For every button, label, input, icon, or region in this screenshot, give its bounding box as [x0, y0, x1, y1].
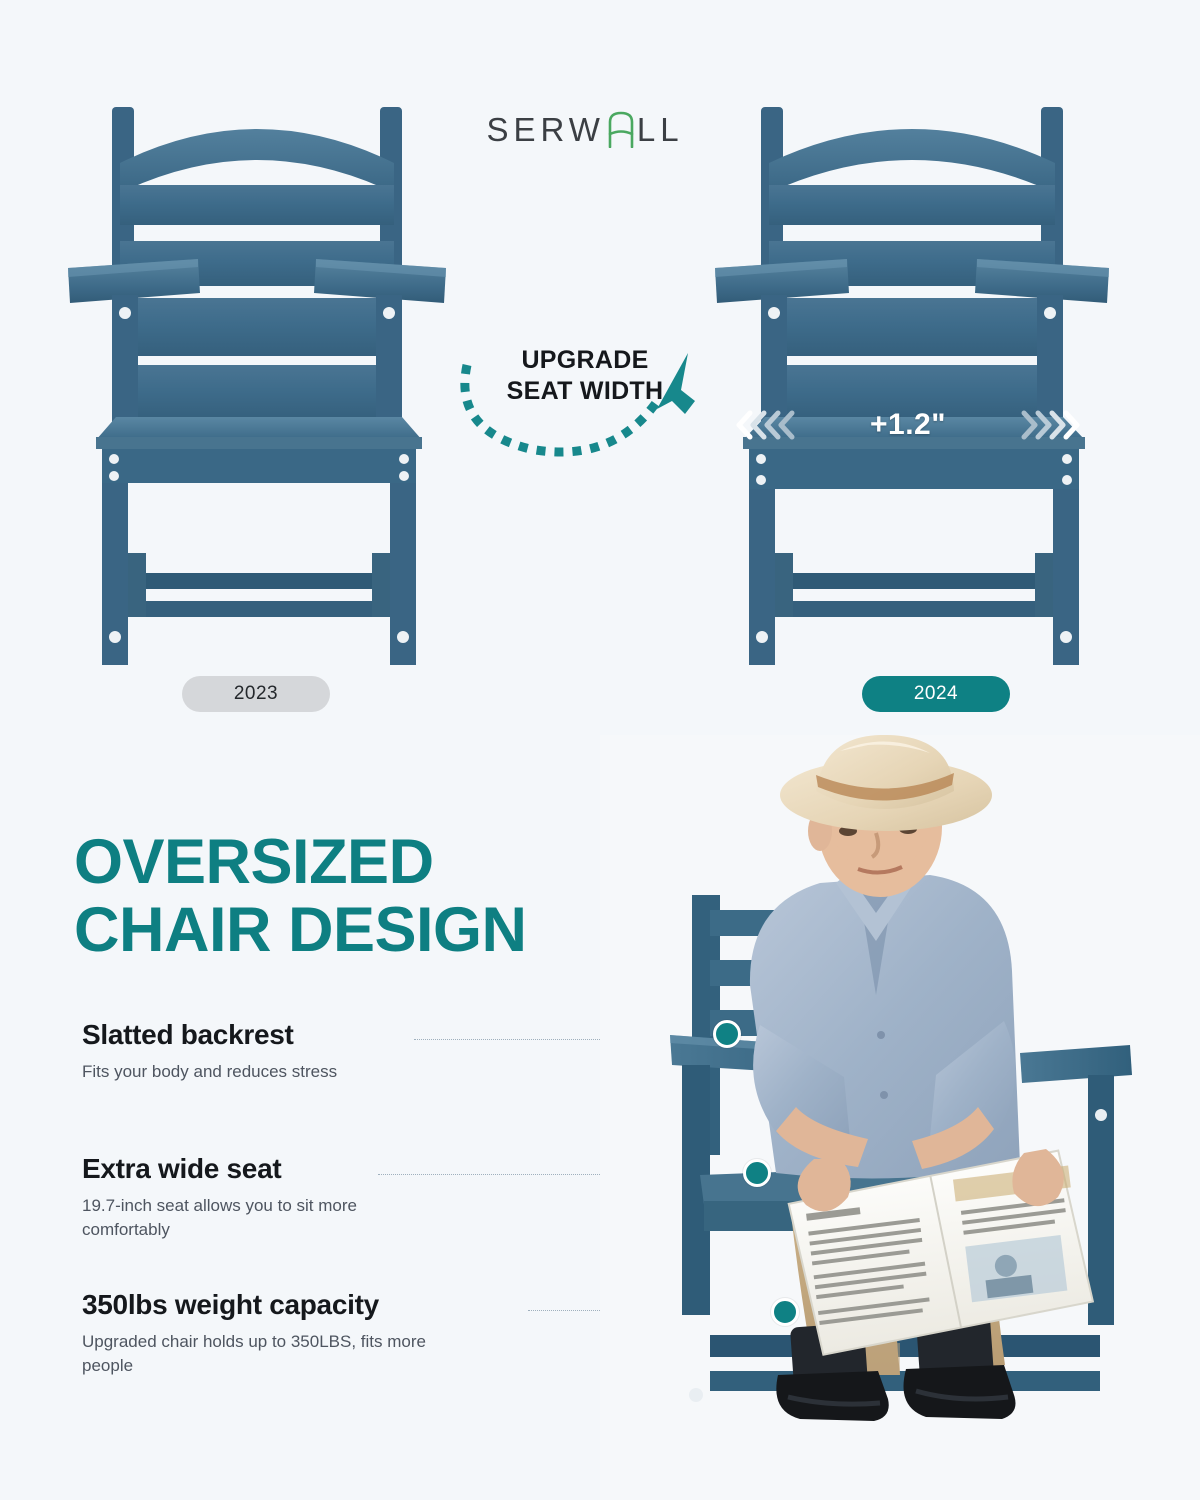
- headline-line-2: CHAIR DESIGN: [74, 896, 634, 964]
- feature-description: Fits your body and reduces stress: [82, 1060, 552, 1085]
- year-badge-2024-label: 2024: [914, 683, 958, 705]
- chair-2023: [50, 45, 470, 670]
- feature-title: Extra wide seat: [82, 1152, 552, 1186]
- comparison-section: SERW LL: [0, 0, 1200, 740]
- page-title: OVERSIZED CHAIR DESIGN: [74, 828, 634, 964]
- brand-logo: SERW LL: [470, 103, 700, 155]
- upgrade-callout: UPGRADE SEAT WIDTH: [445, 335, 715, 465]
- feature-title: Slatted backrest: [82, 1018, 552, 1052]
- upgrade-line-1: UPGRADE: [521, 346, 648, 374]
- seat-width-value: +1.2": [870, 408, 946, 442]
- feature-title: 350lbs weight capacity: [82, 1288, 552, 1322]
- hotspot-backrest[interactable]: [713, 1020, 741, 1048]
- seat-width-measure-badge: +1.2": [728, 405, 1088, 445]
- chevron-right-icons: [1020, 410, 1082, 440]
- upgrade-line-2: SEAT WIDTH: [507, 377, 664, 405]
- chair-letter-a-icon: [606, 112, 636, 146]
- brand-logo-suffix: LL: [637, 113, 684, 146]
- year-badge-2024: 2024: [862, 676, 1010, 712]
- hotspot-frame[interactable]: [771, 1298, 799, 1326]
- feature-item-slatted-backrest: Slatted backrest Fits your body and redu…: [82, 1018, 552, 1084]
- feature-description: Upgraded chair holds up to 350LBS, fits …: [82, 1330, 462, 1379]
- feature-description: 19.7-inch seat allows you to sit more co…: [82, 1194, 392, 1243]
- year-badge-2023-label: 2023: [234, 683, 278, 705]
- hotspot-seat[interactable]: [743, 1159, 771, 1187]
- feature-item-weight-capacity: 350lbs weight capacity Upgraded chair ho…: [82, 1288, 552, 1379]
- brand-logo-prefix: SERW: [486, 113, 604, 146]
- feature-item-extra-wide-seat: Extra wide seat 19.7-inch seat allows yo…: [82, 1152, 552, 1243]
- year-badge-2023: 2023: [182, 676, 330, 712]
- headline-line-1: OVERSIZED: [74, 828, 634, 896]
- upgrade-callout-text: UPGRADE SEAT WIDTH: [490, 345, 680, 406]
- chair-2024: [705, 45, 1125, 670]
- lifestyle-photo: [600, 735, 1200, 1500]
- chevron-left-icons: [734, 410, 796, 440]
- brand-logo-text: SERW LL: [486, 112, 683, 146]
